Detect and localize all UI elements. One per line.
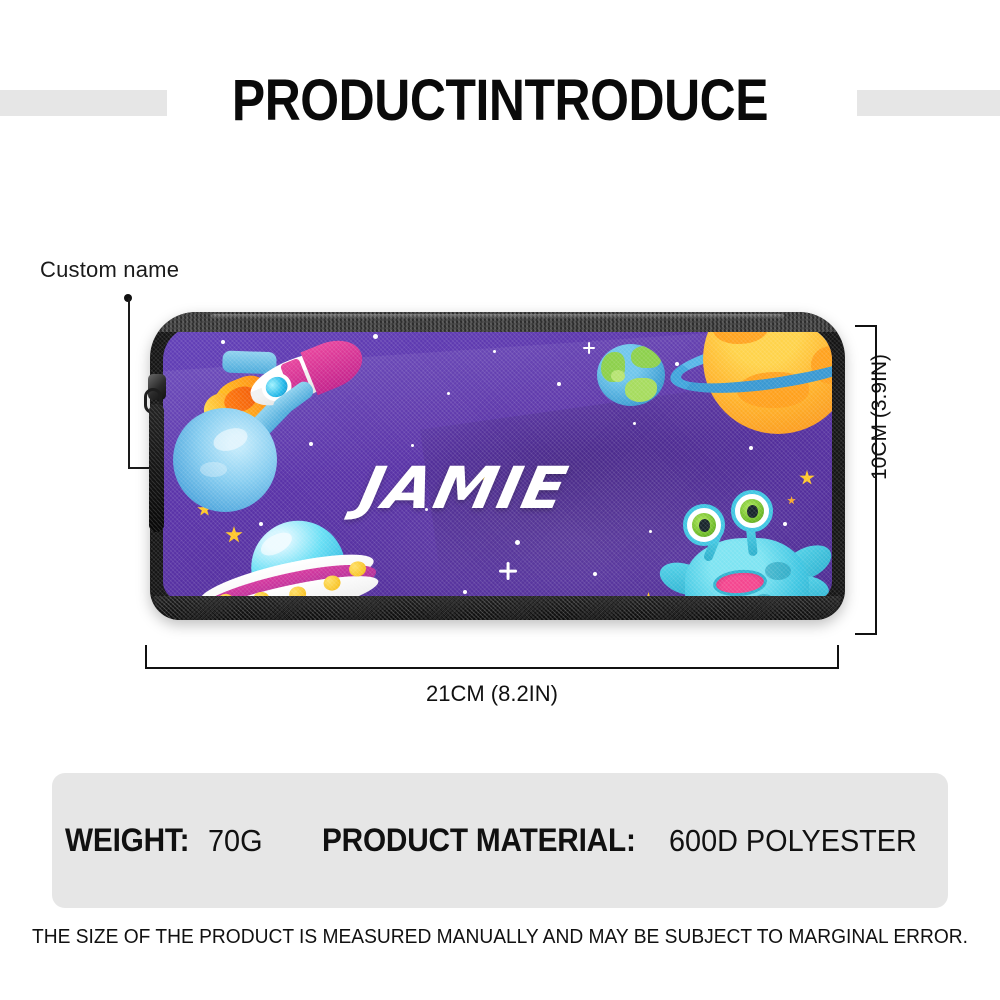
star-icon — [649, 530, 652, 533]
width-dimension-label: 21CM (8.2IN) — [145, 681, 839, 707]
blue-planet-icon — [173, 408, 277, 512]
zipper-pull-icon — [144, 374, 170, 532]
product-image-pencil-case: JAMIE — [150, 312, 845, 620]
height-dimension-label: 10CM (3.9IN) — [868, 354, 892, 480]
custom-name-print: JAMIE — [354, 454, 574, 522]
zipper-tape — [156, 312, 839, 332]
star-icon — [463, 590, 467, 594]
star-icon — [749, 446, 753, 450]
bottom-trim — [154, 596, 841, 620]
page-header: PRODUCTINTRODUCE — [0, 60, 1000, 140]
spec-material-value: 600D POLYESTER — [669, 823, 917, 859]
star-icon — [557, 382, 561, 386]
case-printed-face: JAMIE — [163, 326, 832, 600]
star-icon — [515, 540, 520, 545]
spec-material: PRODUCT MATERIAL: 600D POLYESTER — [322, 822, 935, 859]
spec-panel: WEIGHT: 70G PRODUCT MATERIAL: 600D POLYE… — [52, 773, 948, 908]
star-icon — [259, 522, 263, 526]
star-icon — [593, 572, 597, 576]
star-icon — [309, 442, 313, 446]
callout-leader-line-vertical — [128, 298, 130, 468]
star-icon — [499, 562, 517, 580]
star-icon — [583, 342, 595, 354]
size-disclaimer: THE SIZE OF THE PRODUCT IS MEASURED MANU… — [20, 926, 980, 949]
star-icon — [633, 422, 636, 425]
spec-weight: WEIGHT: 70G — [65, 822, 266, 859]
spec-material-label: PRODUCT MATERIAL: — [322, 822, 636, 859]
ringed-planet-icon — [703, 326, 832, 434]
star-icon — [373, 334, 378, 339]
spec-weight-value: 70G — [208, 823, 263, 859]
page-title: PRODUCTINTRODUCE — [70, 60, 930, 140]
star-icon — [447, 392, 450, 395]
earth-icon — [597, 344, 665, 406]
star-icon — [493, 350, 496, 353]
star-icon — [221, 340, 225, 344]
case-outer-trim: JAMIE — [150, 312, 845, 620]
spec-weight-label: WEIGHT: — [65, 822, 189, 859]
star-icon — [411, 444, 414, 447]
alien-icon — [661, 502, 831, 600]
width-dimension-bracket: 21CM (8.2IN) — [145, 645, 839, 679]
custom-name-callout-label: Custom name — [40, 257, 179, 283]
